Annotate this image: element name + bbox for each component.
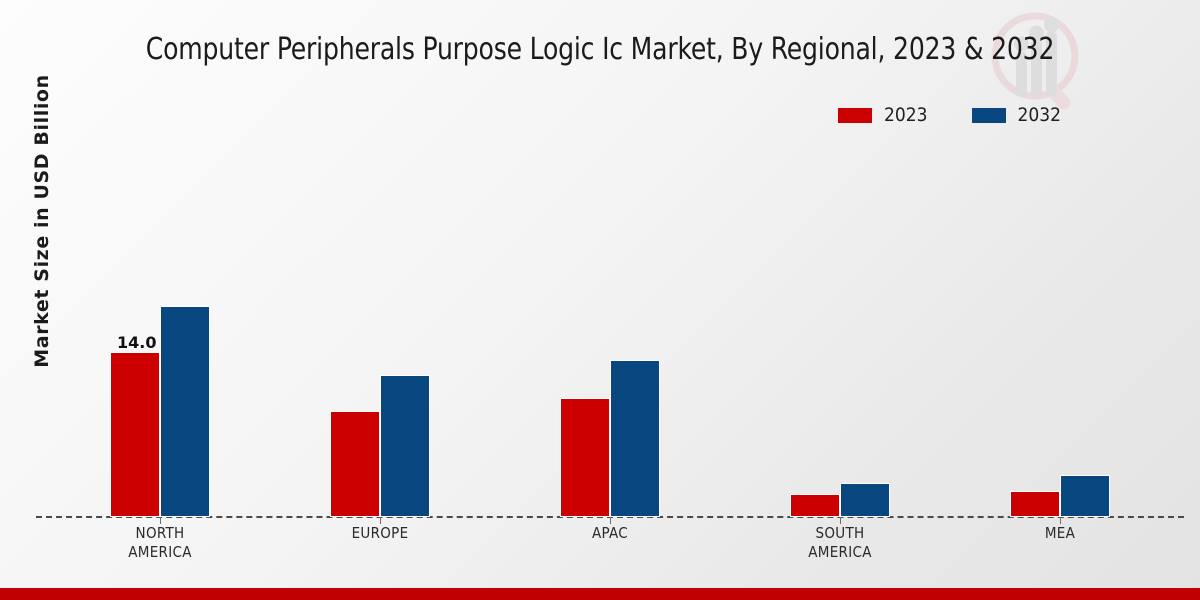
x-label-line: MEA bbox=[960, 524, 1160, 543]
bar-2032-apac[interactable] bbox=[610, 360, 660, 517]
x-label-line: AMERICA bbox=[740, 543, 940, 562]
bar-2023-europe[interactable] bbox=[330, 411, 380, 517]
x-label-mea: MEA bbox=[960, 524, 1160, 543]
footer-strip bbox=[0, 588, 1200, 600]
x-label-line: AMERICA bbox=[60, 543, 260, 562]
x-label-south-america: SOUTH AMERICA bbox=[740, 524, 940, 562]
x-label-north-america: NORTH AMERICA bbox=[60, 524, 260, 562]
x-tick-europe bbox=[380, 517, 381, 524]
x-label-europe: EUROPE bbox=[280, 524, 480, 543]
x-tick-apac bbox=[610, 517, 611, 524]
plot-area: 14.0 NORTH AMERICA EUROPE APAC SOUTH AME… bbox=[0, 0, 1200, 600]
x-tick-mea bbox=[1060, 517, 1061, 524]
x-label-apac: APAC bbox=[510, 524, 710, 543]
bar-2023-south-america[interactable] bbox=[790, 494, 840, 517]
bar-2023-apac[interactable] bbox=[560, 398, 610, 517]
x-label-line: APAC bbox=[510, 524, 710, 543]
x-tick-south-america bbox=[840, 517, 841, 524]
x-label-line: EUROPE bbox=[280, 524, 480, 543]
bar-value-2023-north-america: 14.0 bbox=[117, 333, 156, 352]
x-label-line: NORTH bbox=[60, 524, 260, 543]
bar-2023-north-america[interactable] bbox=[110, 352, 160, 517]
bar-2032-mea[interactable] bbox=[1060, 475, 1110, 517]
bar-2032-europe[interactable] bbox=[380, 375, 430, 517]
bar-2032-south-america[interactable] bbox=[840, 483, 890, 517]
bar-2032-north-america[interactable] bbox=[160, 306, 210, 517]
x-label-line: SOUTH bbox=[740, 524, 940, 543]
x-tick-north-america bbox=[160, 517, 161, 524]
bar-2023-mea[interactable] bbox=[1010, 491, 1060, 517]
